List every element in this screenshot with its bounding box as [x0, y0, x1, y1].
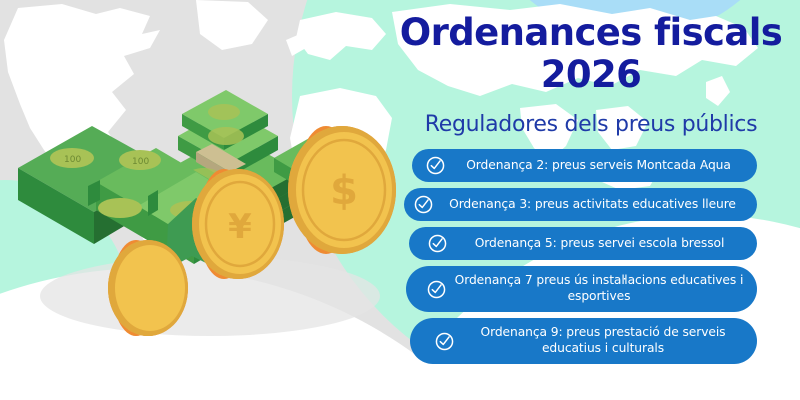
content-column: Ordenances fiscals 2026 Reguladores dels… [382, 0, 800, 400]
title-line-1: Ordenances fiscals [382, 12, 800, 54]
list-item[interactable]: Ordenança 5: preus servei escola bressol [409, 227, 757, 260]
list-item-label: Ordenança 5: preus servei escola bressol [452, 236, 757, 252]
title-line-2: 2026 [382, 54, 800, 96]
page-subtitle: Reguladores dels preus públics [382, 112, 800, 137]
gold-coin-middle: ¥ [190, 166, 290, 286]
list-item[interactable]: Ordenança 3: preus activitats educatives… [404, 188, 757, 221]
list-item-label: Ordenança 7 preus ús instaŀlacions educa… [451, 273, 757, 304]
money-stack-back [160, 90, 364, 254]
list-item[interactable]: Ordenança 9: preus prestació de serveis … [410, 318, 757, 364]
check-circle-icon [426, 279, 447, 300]
svg-text:100: 100 [64, 155, 81, 165]
svg-text:$: $ [330, 168, 358, 214]
check-circle-icon [434, 331, 455, 352]
ordinances-promo-banner: 100 100 [0, 0, 800, 400]
check-circle-icon [425, 155, 446, 176]
check-circle-icon [413, 194, 434, 215]
check-circle-icon [427, 233, 448, 254]
list-item[interactable]: Ordenança 7 preus ús instaŀlacions educa… [406, 266, 757, 312]
list-item[interactable]: Ordenança 2: preus serveis Montcada Aqua [412, 149, 757, 182]
page-title: Ordenances fiscals 2026 [382, 12, 800, 96]
money-illustration: 100 100 [0, 10, 400, 340]
money-stack-front: 100 100 [18, 126, 252, 264]
list-item-label: Ordenança 2: preus serveis Montcada Aqua [450, 158, 757, 174]
green-arrow-graphic [166, 198, 276, 270]
background-mint-circle-left [0, 180, 130, 400]
svg-text:100: 100 [132, 157, 149, 167]
svg-text:¥: ¥ [228, 207, 252, 247]
gold-coin-small [104, 238, 200, 340]
list-item-label: Ordenança 3: preus activitats educatives… [438, 197, 757, 213]
ordinance-list: Ordenança 2: preus serveis Montcada Aqua… [382, 149, 800, 370]
list-item-label: Ordenança 9: preus prestació de serveis … [459, 325, 757, 356]
